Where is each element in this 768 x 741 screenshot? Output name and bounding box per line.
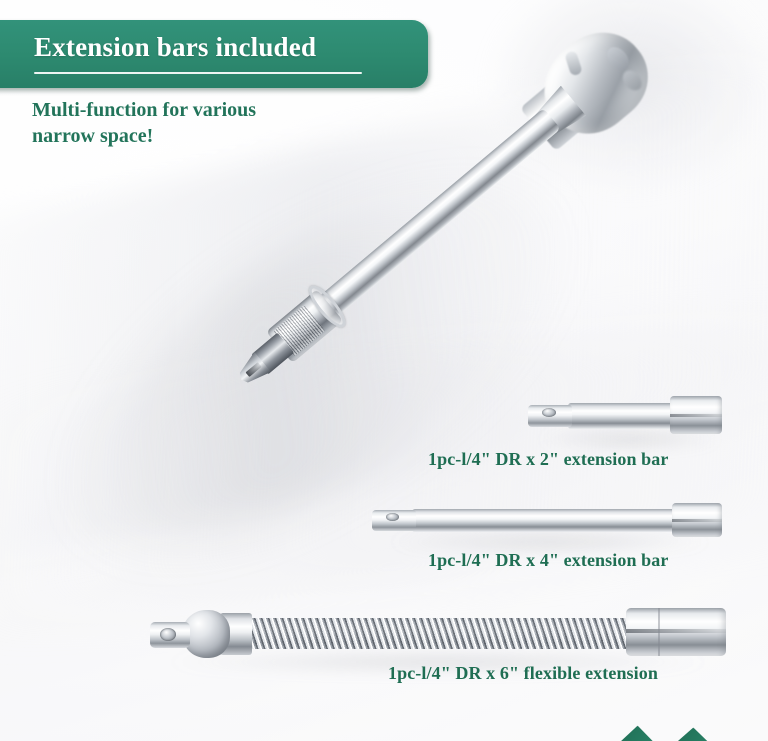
bar-shaft bbox=[568, 403, 676, 429]
header-banner: Extension bars included bbox=[0, 20, 428, 88]
banner-underline bbox=[34, 72, 362, 74]
product-extension-bar-4in bbox=[372, 503, 722, 537]
socket-highlight bbox=[670, 414, 722, 417]
product-flexible-extension-6in bbox=[150, 606, 726, 658]
detent-ball bbox=[542, 408, 556, 417]
caption-extension-bar-2in: 1pc-l/4" DR x 2" extension bar bbox=[428, 449, 668, 470]
socket-highlight bbox=[626, 629, 726, 633]
banner-title: Extension bars included bbox=[34, 34, 316, 61]
detent-ball bbox=[160, 628, 176, 641]
socket-highlight bbox=[672, 519, 722, 522]
flexible-coil-shaft bbox=[250, 618, 660, 649]
socket-seam bbox=[658, 608, 660, 656]
bar-shaft bbox=[412, 509, 678, 532]
product-extension-bar-2in bbox=[528, 396, 722, 434]
caption-extension-bar-4in: 1pc-l/4" DR x 4" extension bar bbox=[428, 550, 668, 571]
detent-ball bbox=[386, 513, 399, 521]
caption-flexible-extension-6in: 1pc-l/4" DR x 6" flexible extension bbox=[388, 663, 658, 684]
subtitle-text: Multi-function for various narrow space! bbox=[32, 98, 372, 149]
product-marketing-image: Extension bars included Multi-function f… bbox=[0, 0, 768, 741]
